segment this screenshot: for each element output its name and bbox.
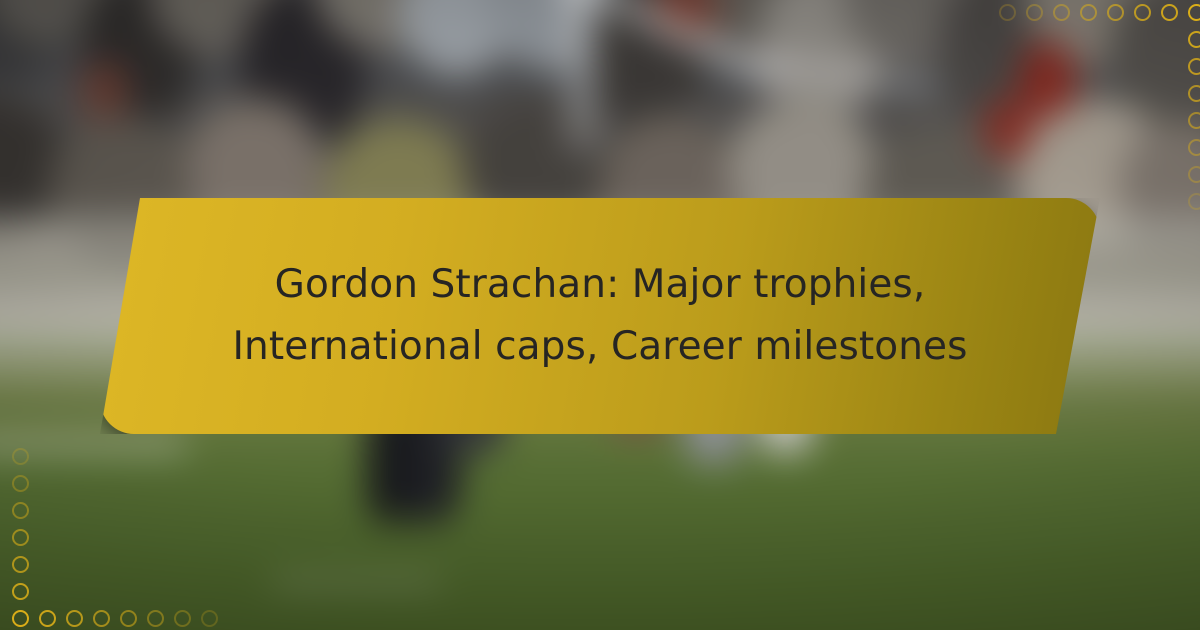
decorative-dot [147,610,164,627]
decorative-dot [93,610,110,627]
decorative-dot [1188,166,1200,183]
page-title-line-1: Gordon Strachan: Major trophies, [275,256,926,314]
decorative-dot [1188,112,1200,129]
page-title-line-2: International caps, Career milestones [232,318,967,376]
decorative-dot [1188,193,1200,210]
decorative-dot [12,610,29,627]
decorative-dot [39,610,56,627]
decorative-dot [1188,31,1200,48]
title-card: Gordon Strachan: Major trophies, Interna… [100,198,1100,434]
decorative-dot [201,610,218,627]
decorative-dot [120,610,137,627]
decorative-dot [1188,58,1200,75]
social-card-canvas: Gordon Strachan: Major trophies, Interna… [0,0,1200,630]
decorative-dot [174,610,191,627]
decorative-dot [1188,139,1200,156]
title-card-content: Gordon Strachan: Major trophies, Interna… [100,198,1100,434]
decorative-dot [66,610,83,627]
decorative-dot [1188,85,1200,102]
